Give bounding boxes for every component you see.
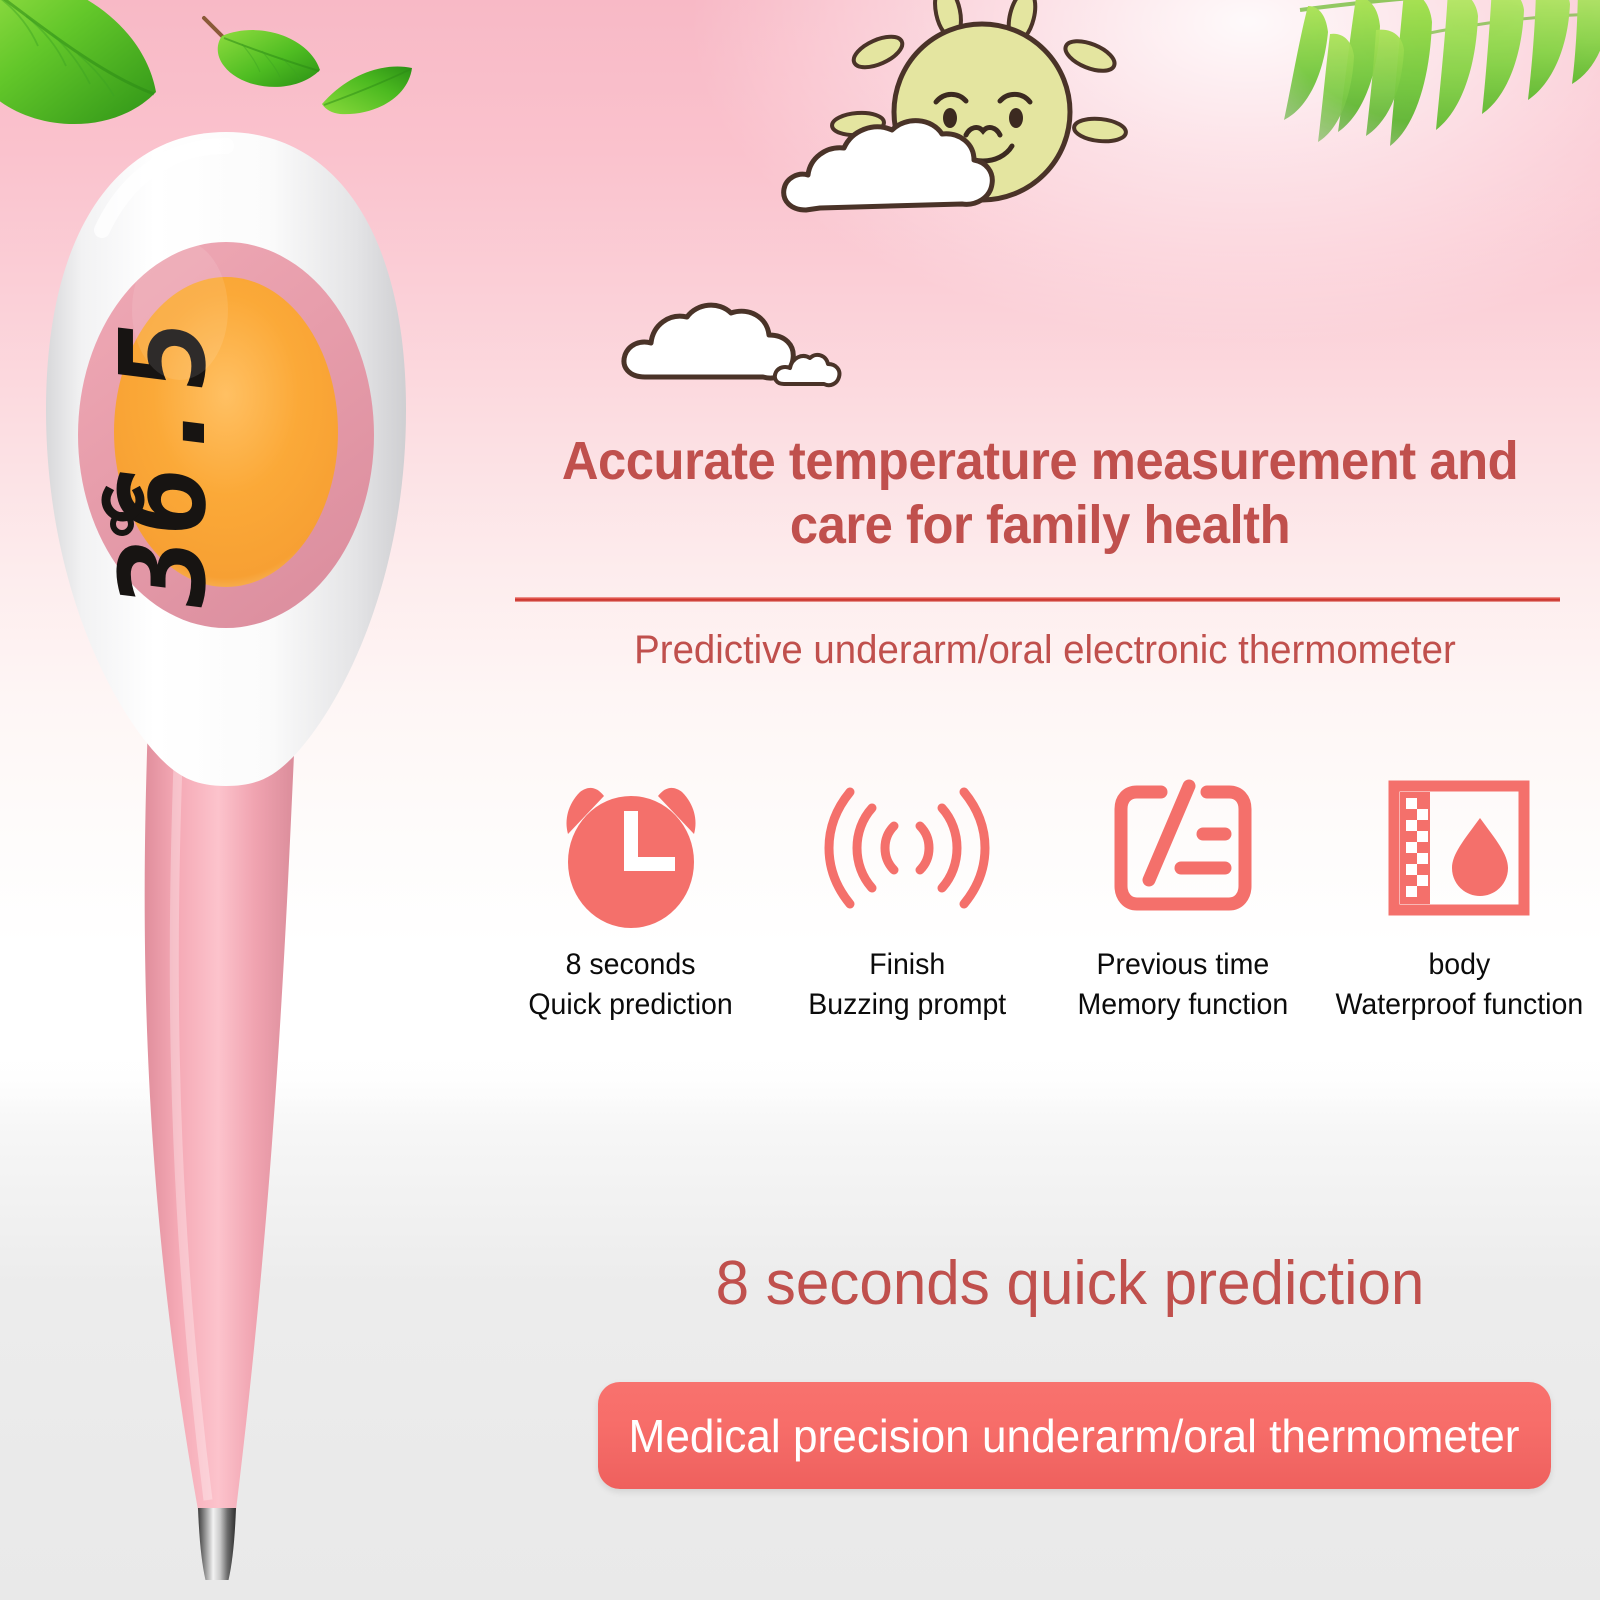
green-leaf-branch: [1180, 0, 1600, 210]
feature-label: Previous time Memory function: [1078, 945, 1289, 1024]
feature-item-buzzing-prompt: Finish Buzzing prompt: [776, 760, 1038, 1024]
feature-list: 8 seconds Quick prediction: [500, 760, 1590, 1060]
digital-thermometer: 36.5 36.5 M: [30, 110, 430, 1580]
headline-line-1: Accurate temperature measurement and: [542, 430, 1538, 494]
green-leaf-medium: [198, 14, 328, 104]
feature-label: body Waterproof function: [1335, 945, 1583, 1024]
alarm-clock-icon: [550, 760, 712, 935]
sound-waves-icon: [824, 760, 990, 935]
feature-label: 8 seconds Quick prediction: [529, 945, 733, 1024]
divider: [515, 597, 1560, 602]
feature-item-memory-function: Previous time Memory function: [1052, 760, 1314, 1024]
feature-item-waterproof: body Waterproof function: [1328, 760, 1590, 1024]
promo-heading: 8 seconds quick prediction: [575, 1250, 1564, 1318]
page-subtitle: Predictive underarm/oral electronic ther…: [531, 626, 1558, 674]
cloud-icon: [772, 350, 848, 390]
memory-note-icon: [1107, 760, 1259, 935]
feature-label: Finish Buzzing prompt: [808, 945, 1006, 1024]
feature-item-quick-prediction: 8 seconds Quick prediction: [500, 760, 762, 1024]
cta-banner[interactable]: Medical precision underarm/oral thermome…: [598, 1382, 1551, 1489]
product-banner: 36.5 36.5 M: [0, 0, 1600, 1600]
waterproof-droplet-icon: [1384, 760, 1534, 935]
headline-line-2: care for family health: [542, 494, 1538, 558]
green-leaf-small: [318, 58, 418, 118]
page-title: Accurate temperature measurement and car…: [542, 430, 1538, 557]
smiling-sun-icon: [760, 0, 1180, 244]
cta-label: Medical precision underarm/oral thermome…: [629, 1413, 1520, 1459]
